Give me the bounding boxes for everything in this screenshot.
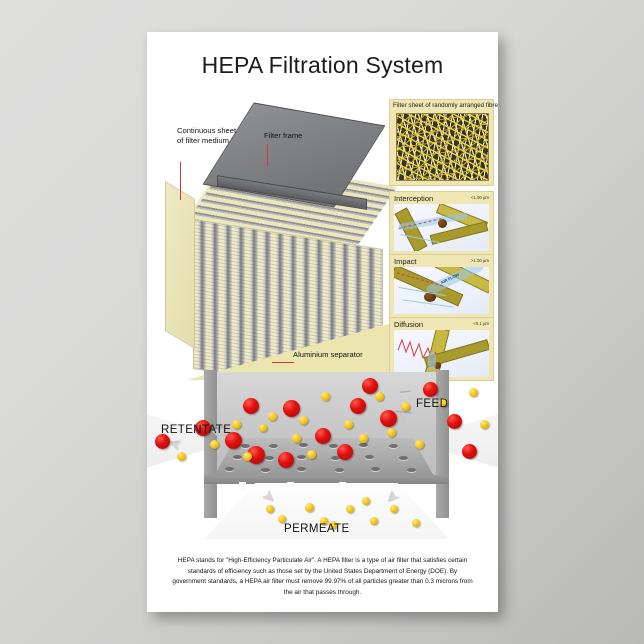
particle-small bbox=[480, 420, 489, 429]
membrane-separation-diagram: ➤ ➤ ➤ ➤ ➤ bbox=[147, 362, 498, 554]
mechanism-size-interception: <1.00 µm bbox=[471, 195, 489, 200]
particle-large bbox=[380, 410, 397, 427]
label-aluminium-separator: Aluminium separator bbox=[293, 350, 363, 360]
mechanism-art-interception bbox=[394, 204, 489, 251]
membrane-pore bbox=[225, 467, 234, 471]
particle-large bbox=[462, 444, 477, 459]
membrane-pore bbox=[399, 456, 408, 460]
leader-line-continuous-sheet bbox=[180, 162, 181, 200]
particle-small bbox=[210, 440, 219, 449]
membrane-pore bbox=[335, 468, 344, 472]
particle-small bbox=[321, 392, 330, 401]
particle-small bbox=[268, 412, 277, 421]
particle-small bbox=[232, 420, 241, 429]
particle-small bbox=[259, 424, 267, 432]
particle-small bbox=[305, 503, 314, 512]
membrane-pore bbox=[365, 455, 374, 459]
particle-small bbox=[346, 505, 354, 513]
membrane-pore bbox=[241, 444, 250, 448]
particle-small bbox=[243, 452, 252, 461]
particle-large bbox=[243, 398, 259, 414]
particle-small bbox=[177, 452, 186, 461]
membrane-pore bbox=[265, 456, 274, 460]
membrane-pore bbox=[389, 444, 398, 448]
membrane-pore bbox=[299, 443, 308, 447]
membrane-pore bbox=[371, 467, 380, 471]
membrane-pore bbox=[233, 455, 242, 459]
particle-small bbox=[344, 420, 353, 429]
label-continuous-sheet: Continuous sheet of filter medium bbox=[177, 126, 239, 145]
label-permeate: PERMEATE bbox=[284, 523, 350, 535]
particle-large bbox=[350, 398, 366, 414]
particle-small bbox=[415, 440, 424, 449]
fibre-panel-caption: Filter sheet of randomly arranged fibres bbox=[390, 100, 493, 112]
membrane-pore bbox=[269, 444, 278, 448]
particle-small bbox=[387, 428, 396, 437]
particle-small bbox=[278, 515, 286, 523]
particle-small bbox=[359, 434, 368, 443]
label-filter-frame: Filter frame bbox=[264, 131, 302, 141]
membrane-pore bbox=[297, 467, 306, 471]
particle-large bbox=[447, 414, 462, 429]
particle-small bbox=[362, 497, 370, 505]
leader-line-filter-frame bbox=[267, 144, 268, 166]
particle-small bbox=[469, 388, 478, 397]
particle-small bbox=[266, 505, 274, 513]
membrane-pore bbox=[359, 443, 368, 447]
particle-small bbox=[299, 416, 308, 425]
mechanism-size-diffusion: <0.1 µm bbox=[473, 321, 489, 326]
page-title: HEPA Filtration System bbox=[147, 52, 498, 79]
membrane-pore bbox=[329, 444, 338, 448]
particle-large bbox=[423, 382, 438, 397]
chamber-post-right bbox=[436, 370, 449, 518]
mechanism-panel-interception: Interception <1.00 µm bbox=[389, 191, 494, 255]
particle-large bbox=[155, 434, 170, 449]
particle-small bbox=[292, 434, 301, 443]
mechanism-size-impact: >1.00 µm bbox=[471, 258, 489, 263]
filter-side-face bbox=[165, 181, 195, 349]
fibre-sheet-panel: Filter sheet of randomly arranged fibres bbox=[389, 99, 494, 186]
permeate-drip bbox=[239, 482, 246, 491]
poster: HEPA Filtration System Continuous sheet … bbox=[147, 32, 498, 612]
membrane-pore bbox=[261, 468, 270, 472]
particle-large bbox=[283, 400, 300, 417]
mechanism-label-interception: Interception bbox=[394, 194, 433, 203]
mechanism-panel-impact: Impact >1.00 µm AIR FLOW bbox=[389, 254, 494, 318]
label-retentate: RETENTATE bbox=[161, 424, 231, 436]
particle-large bbox=[315, 428, 331, 444]
particle-small bbox=[412, 519, 420, 527]
particle-large bbox=[362, 378, 378, 394]
mechanism-label-impact: Impact bbox=[394, 257, 417, 266]
caption-text: HEPA stands for "High-Efficiency Particu… bbox=[171, 556, 474, 598]
membrane-pore bbox=[297, 455, 306, 459]
fibre-micrograph-image bbox=[396, 113, 489, 181]
membrane-pore bbox=[407, 468, 416, 472]
mechanism-art-impact: AIR FLOW bbox=[394, 267, 489, 314]
particle-small bbox=[375, 392, 384, 401]
mechanism-label-diffusion: Diffusion bbox=[394, 320, 423, 329]
particle-small bbox=[370, 517, 378, 525]
label-feed: FEED bbox=[416, 398, 448, 410]
particle-large bbox=[278, 452, 294, 468]
particle-small bbox=[401, 402, 410, 411]
filter-cutaway-diagram: Continuous sheet of filter medium Filter… bbox=[147, 94, 498, 389]
particle-small bbox=[390, 505, 398, 513]
particle-small bbox=[307, 450, 316, 459]
particle-icon bbox=[438, 219, 447, 228]
particle-large bbox=[337, 444, 353, 460]
